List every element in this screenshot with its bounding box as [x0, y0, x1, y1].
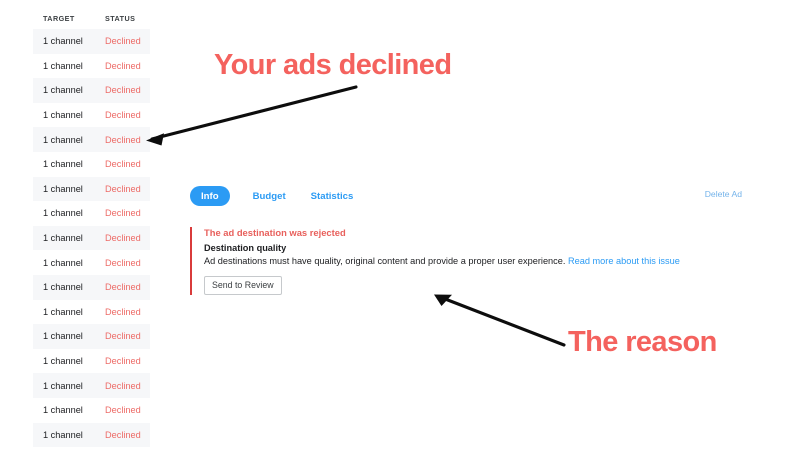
table-row[interactable]: 1 channelDeclined [33, 324, 150, 349]
annotation-ads-declined: Your ads declined [214, 49, 451, 82]
tab-bar: Info Budget Statistics Delete Ad [190, 184, 750, 208]
rejection-notice: The ad destination was rejected Destinat… [190, 227, 750, 295]
cell-target: 1 channel [33, 208, 105, 218]
cell-status: Declined [105, 405, 150, 415]
ads-table: TARGET STATUS 1 channelDeclined1 channel… [33, 8, 150, 447]
cell-target: 1 channel [33, 110, 105, 120]
rejection-title: The ad destination was rejected [204, 227, 750, 238]
cell-status: Declined [105, 430, 150, 440]
cell-target: 1 channel [33, 85, 105, 95]
ad-detail-panel: Info Budget Statistics Delete Ad The ad … [190, 184, 750, 295]
tab-info[interactable]: Info [190, 186, 230, 206]
table-row[interactable]: 1 channelDeclined [33, 54, 150, 79]
cell-target: 1 channel [33, 184, 105, 194]
column-header-status: STATUS [105, 14, 150, 23]
cell-target: 1 channel [33, 307, 105, 317]
table-row[interactable]: 1 channelDeclined [33, 127, 150, 152]
table-row[interactable]: 1 channelDeclined [33, 300, 150, 325]
table-row[interactable]: 1 channelDeclined [33, 177, 150, 202]
cell-target: 1 channel [33, 233, 105, 243]
table-row[interactable]: 1 channelDeclined [33, 349, 150, 374]
tab-statistics[interactable]: Statistics [309, 187, 356, 206]
table-row[interactable]: 1 channelDeclined [33, 78, 150, 103]
cell-status: Declined [105, 331, 150, 341]
cell-target: 1 channel [33, 61, 105, 71]
table-row[interactable]: 1 channelDeclined [33, 226, 150, 251]
table-row[interactable]: 1 channelDeclined [33, 103, 150, 128]
cell-status: Declined [105, 184, 150, 194]
table-row[interactable]: 1 channelDeclined [33, 201, 150, 226]
tab-budget[interactable]: Budget [251, 187, 288, 206]
cell-target: 1 channel [33, 258, 105, 268]
table-body: 1 channelDeclined1 channelDeclined1 chan… [33, 29, 150, 447]
cell-target: 1 channel [33, 159, 105, 169]
cell-target: 1 channel [33, 282, 105, 292]
cell-target: 1 channel [33, 331, 105, 341]
cell-status: Declined [105, 159, 150, 169]
cell-target: 1 channel [33, 430, 105, 440]
cell-status: Declined [105, 110, 150, 120]
annotation-the-reason: The reason [568, 326, 717, 359]
cell-target: 1 channel [33, 356, 105, 366]
cell-status: Declined [105, 307, 150, 317]
arrow-to-rejection-notice [434, 295, 564, 346]
send-to-review-button[interactable]: Send to Review [204, 276, 282, 295]
cell-status: Declined [105, 85, 150, 95]
table-row[interactable]: 1 channelDeclined [33, 275, 150, 300]
table-header-row: TARGET STATUS [33, 8, 150, 29]
cell-target: 1 channel [33, 381, 105, 391]
table-row[interactable]: 1 channelDeclined [33, 398, 150, 423]
cell-status: Declined [105, 282, 150, 292]
arrow-to-status-column [146, 87, 356, 146]
rejection-body: Ad destinations must have quality, origi… [204, 255, 750, 267]
cell-status: Declined [105, 208, 150, 218]
cell-status: Declined [105, 356, 150, 366]
cell-status: Declined [105, 233, 150, 243]
table-row[interactable]: 1 channelDeclined [33, 373, 150, 398]
cell-target: 1 channel [33, 405, 105, 415]
rejection-subtitle: Destination quality [204, 243, 750, 253]
table-row[interactable]: 1 channelDeclined [33, 250, 150, 275]
cell-status: Declined [105, 61, 150, 71]
cell-status: Declined [105, 381, 150, 391]
cell-status: Declined [105, 258, 150, 268]
read-more-link[interactable]: Read more about this issue [568, 256, 680, 266]
rejection-body-text: Ad destinations must have quality, origi… [204, 256, 565, 266]
table-row[interactable]: 1 channelDeclined [33, 423, 150, 448]
cell-status: Declined [105, 135, 150, 145]
cell-target: 1 channel [33, 36, 105, 46]
delete-ad-link[interactable]: Delete Ad [705, 189, 742, 199]
cell-target: 1 channel [33, 135, 105, 145]
table-row[interactable]: 1 channelDeclined [33, 152, 150, 177]
table-row[interactable]: 1 channelDeclined [33, 29, 150, 54]
column-header-target: TARGET [33, 14, 105, 23]
cell-status: Declined [105, 36, 150, 46]
